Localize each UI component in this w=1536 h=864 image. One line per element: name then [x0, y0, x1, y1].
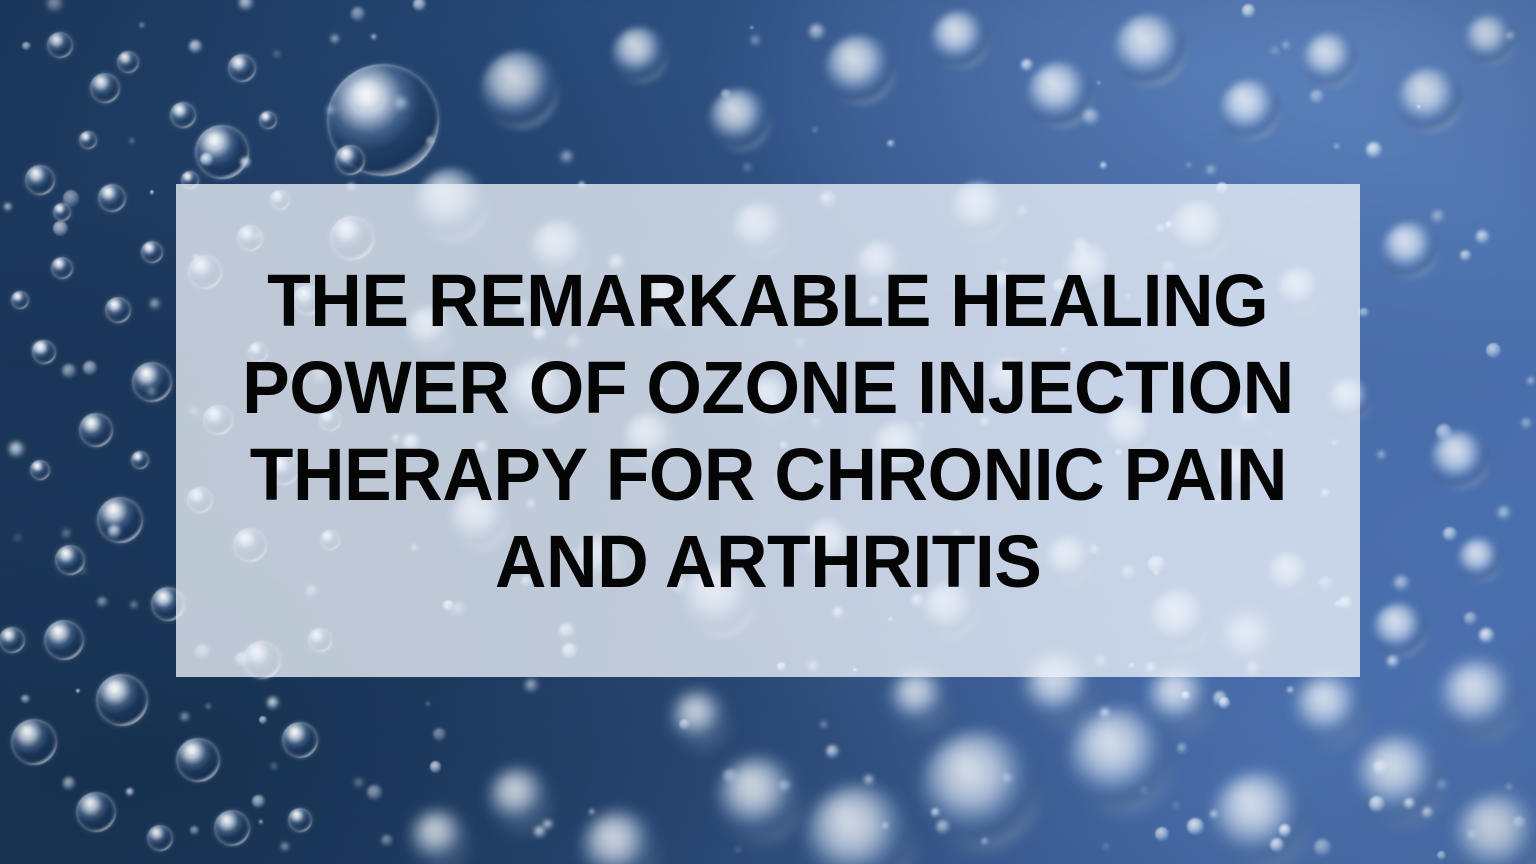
- headline-line-2: POWER OF OZONE INJECTION: [242, 344, 1294, 431]
- headline-block: THE REMARKABLE HEALING POWER OF OZONE IN…: [176, 184, 1360, 677]
- banner-image: THE REMARKABLE HEALING POWER OF OZONE IN…: [0, 0, 1536, 864]
- headline-line-1: THE REMARKABLE HEALING: [267, 257, 1268, 344]
- headline-line-4: AND ARTHRITIS: [495, 518, 1041, 605]
- headline-line-3: THERAPY FOR CHRONIC PAIN: [249, 431, 1286, 518]
